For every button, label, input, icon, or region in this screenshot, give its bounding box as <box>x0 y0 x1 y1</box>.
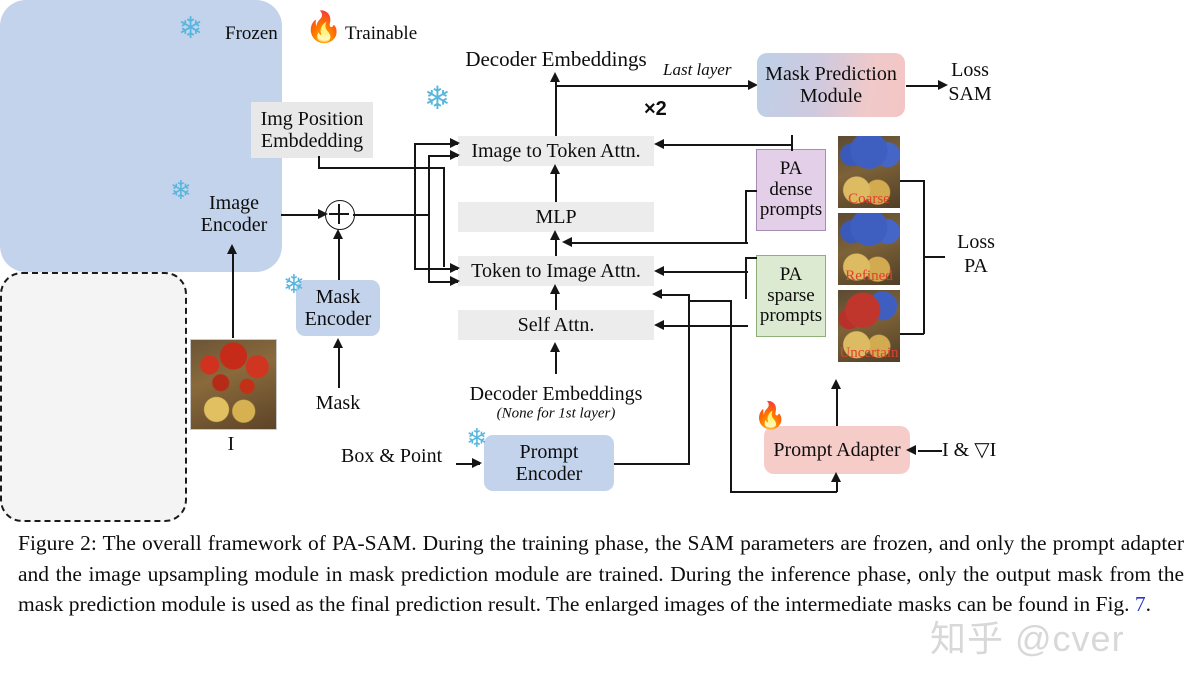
token-to-image-attn-box: Token to Image Attn. <box>458 256 654 286</box>
pa-dense-line3: prompts <box>760 200 822 221</box>
img-position-line1: Img Position <box>261 108 364 130</box>
self-attn-box: Self Attn. <box>458 310 654 340</box>
arrow-boxpoint-to-promptenc <box>472 458 482 468</box>
thumbnail-coarse-caption: Coarse <box>838 191 900 208</box>
mask-encoder-line1: Mask <box>316 286 360 308</box>
self-attn-label: Self Attn. <box>518 314 595 336</box>
pa-sparse-line3: prompts <box>760 306 822 327</box>
conn-dense-top-h <box>662 144 792 146</box>
legend-trainable-label: Trainable <box>345 23 417 44</box>
mask-prediction-module-box: Mask Prediction Module <box>757 53 905 117</box>
conn-dense-to-mlp-h <box>570 242 748 244</box>
conn-adapter-to-region <box>836 386 838 426</box>
prompt-encoder-snowflake-icon: ❄ <box>466 426 488 452</box>
caption-reference-link[interactable]: 7 <box>1135 592 1146 616</box>
conn-feedback-from-tok <box>688 300 732 302</box>
thumbnail-coarse: Coarse <box>838 136 900 208</box>
arrow-maskenc-to-plus <box>333 229 343 239</box>
mlp-label: MLP <box>535 206 576 228</box>
arrow-bottomemb-to-selfattn <box>550 342 560 352</box>
conn-dense-left-stub <box>745 190 757 192</box>
figure-caption: Figure 2: The overall framework of PA-SA… <box>18 528 1184 620</box>
mask-input-label: Mask <box>316 392 360 414</box>
prompt-adapter-label: Prompt Adapter <box>773 439 900 461</box>
conn-img2tok-to-topemb <box>555 78 557 136</box>
conn-maskenc-to-plus <box>338 236 340 280</box>
conn-dense-down <box>745 190 747 242</box>
bottom-decoder-embeddings-label: Decoder Embeddings <box>470 383 643 405</box>
sum-node <box>325 200 355 230</box>
panel-snowflake-icon: ❄ <box>424 82 451 114</box>
image-encoder-box: Image Encoder <box>188 186 280 242</box>
conn-plus-right <box>353 214 429 216</box>
conn-feedback-h <box>730 491 837 493</box>
conn-plus-riser <box>428 155 430 283</box>
pa-dense-prompts-box: PA dense prompts <box>756 149 826 231</box>
pa-sparse-prompts-box: PA sparse prompts <box>756 255 826 337</box>
conn-sparse-stub <box>745 257 757 259</box>
mask-encoder-box: Mask Encoder <box>296 280 380 336</box>
conn-sparse-to-selfattn <box>662 325 748 327</box>
thumbnail-uncertain: Uncertain <box>838 290 900 362</box>
arrow-adapterinput-to-adapter <box>906 445 916 455</box>
caption-body-1: The overall framework of PA-SAM. During … <box>18 531 1184 616</box>
conn-mask-to-maskenc <box>338 344 340 388</box>
prompt-adapter-fire-icon: 🔥 <box>754 403 786 429</box>
mask-encoder-line2: Encoder <box>305 308 372 330</box>
mask-prediction-module-line1: Mask Prediction <box>765 63 897 85</box>
image-encoder-snowflake-icon: ❄ <box>170 178 192 204</box>
conn-adapterinput-h <box>918 450 942 452</box>
loss-sam-line2: SAM <box>948 83 991 105</box>
pa-sparse-line2: sparse <box>767 286 814 307</box>
thumbnail-refined: Refined <box>838 213 900 285</box>
box-point-label: Box & Point <box>341 445 442 467</box>
last-layer-label: Last layer <box>663 60 731 79</box>
arrow-sparse-to-selfattn <box>654 320 664 330</box>
loss-pa-line2: PA <box>964 255 988 277</box>
conn-inputimage-to-imgenc <box>232 250 234 338</box>
conn-imgenc-to-plus <box>281 214 321 216</box>
conn-sparse-left-v <box>745 257 747 299</box>
image-encoder-line2: Encoder <box>201 214 268 236</box>
arrow-selfattn-to-token <box>550 284 560 294</box>
arrow-imgpos-to-img2tok <box>450 138 460 148</box>
arrow-inputimage-to-imgenc <box>227 244 237 254</box>
arrow-feedback-to-adapter <box>831 472 841 482</box>
conn-mlp-to-img2tok <box>555 170 557 202</box>
prompt-encoder-line2: Encoder <box>516 463 583 485</box>
conn-feedback-v <box>730 300 732 492</box>
conn-mpm-to-losssam <box>906 85 942 87</box>
image-encoder-line1: Image <box>209 192 259 214</box>
snowflake-icon: ❄ <box>178 14 203 44</box>
image-to-token-attn-label: Image to Token Attn. <box>471 140 640 162</box>
pa-dense-line2: dense <box>769 180 812 201</box>
mask-prediction-module-line2: Module <box>800 85 862 107</box>
arrow-mpm-to-losssam <box>938 80 948 90</box>
brace-stem <box>923 256 945 258</box>
prompt-encoder-line1: Prompt <box>520 441 579 463</box>
conn-imgpos-riser <box>414 143 416 269</box>
caption-body-2: . <box>1146 592 1151 616</box>
arrow-dense-to-mlp <box>562 237 572 247</box>
image-to-token-attn-box: Image to Token Attn. <box>458 136 654 166</box>
input-image-thumbnail <box>190 339 277 430</box>
arrow-dense-to-img2tok <box>654 139 664 149</box>
conn-promptenc-right <box>614 463 690 465</box>
conn-sparse-to-tok2img <box>662 271 748 273</box>
token-to-image-attn-label: Token to Image Attn. <box>471 260 641 282</box>
watermark: 知乎 @cver <box>930 610 1125 662</box>
pa-prompts-region <box>0 272 187 522</box>
conn-lastlayer-h <box>555 85 751 87</box>
arrow-plus-to-tok2img <box>450 276 460 286</box>
plus-v <box>338 204 340 224</box>
thumbnail-refined-caption: Refined <box>838 268 900 285</box>
brace-top-h <box>900 180 924 182</box>
arrow-mask-to-maskenc <box>333 338 343 348</box>
img-position-embedding-box: Img Position Embdedding <box>251 102 373 158</box>
legend-frozen-label: Frozen <box>225 23 278 44</box>
repeat-badge: ×2 <box>644 98 667 120</box>
arrow-img2tok-to-topemb <box>550 72 560 82</box>
pa-dense-line1: PA <box>780 159 803 180</box>
conn-imgpos-h <box>318 167 444 169</box>
conn-promptenc-to-tok2img <box>660 294 690 296</box>
pa-sparse-line1: PA <box>780 265 803 286</box>
loss-pa-line1: Loss <box>957 231 995 253</box>
top-decoder-embeddings-label: Decoder Embeddings <box>465 48 646 72</box>
figure-diagram: ❄ Frozen 🔥 Trainable ❄ ×2 Image to Token… <box>0 0 1198 520</box>
loss-sam-line1: Loss <box>951 59 989 81</box>
arrow-adapter-to-region <box>831 379 841 389</box>
caption-prefix: Figure 2: <box>18 531 97 555</box>
arrow-plus-to-img2tok <box>450 150 460 160</box>
mlp-box: MLP <box>458 202 654 232</box>
arrow-imgpos-to-tok2img <box>450 263 460 273</box>
conn-dense-up <box>791 135 793 151</box>
arrow-token-to-mlp <box>550 230 560 240</box>
bottom-decoder-note: (None for 1st layer) <box>497 406 616 423</box>
mask-encoder-snowflake-icon: ❄ <box>283 272 305 298</box>
thumbnail-uncertain-caption: Uncertain <box>838 345 900 362</box>
brace-bottom-h <box>900 333 924 335</box>
img-position-line2: Embdedding <box>261 130 363 152</box>
prompt-encoder-box: Prompt Encoder <box>484 435 614 491</box>
adapter-input-label: I & ▽I <box>942 439 996 461</box>
prompt-adapter-box: Prompt Adapter <box>764 426 910 474</box>
fire-icon: 🔥 <box>305 13 342 43</box>
conn-imgpos-v2 <box>443 167 445 267</box>
arrow-promptenc-to-tok2img <box>652 289 662 299</box>
arrow-mlp-to-img2tok <box>550 164 560 174</box>
input-image-label: I <box>228 433 235 455</box>
arrow-sparse-to-tok2img <box>654 266 664 276</box>
conn-promptenc-riser <box>688 294 690 464</box>
